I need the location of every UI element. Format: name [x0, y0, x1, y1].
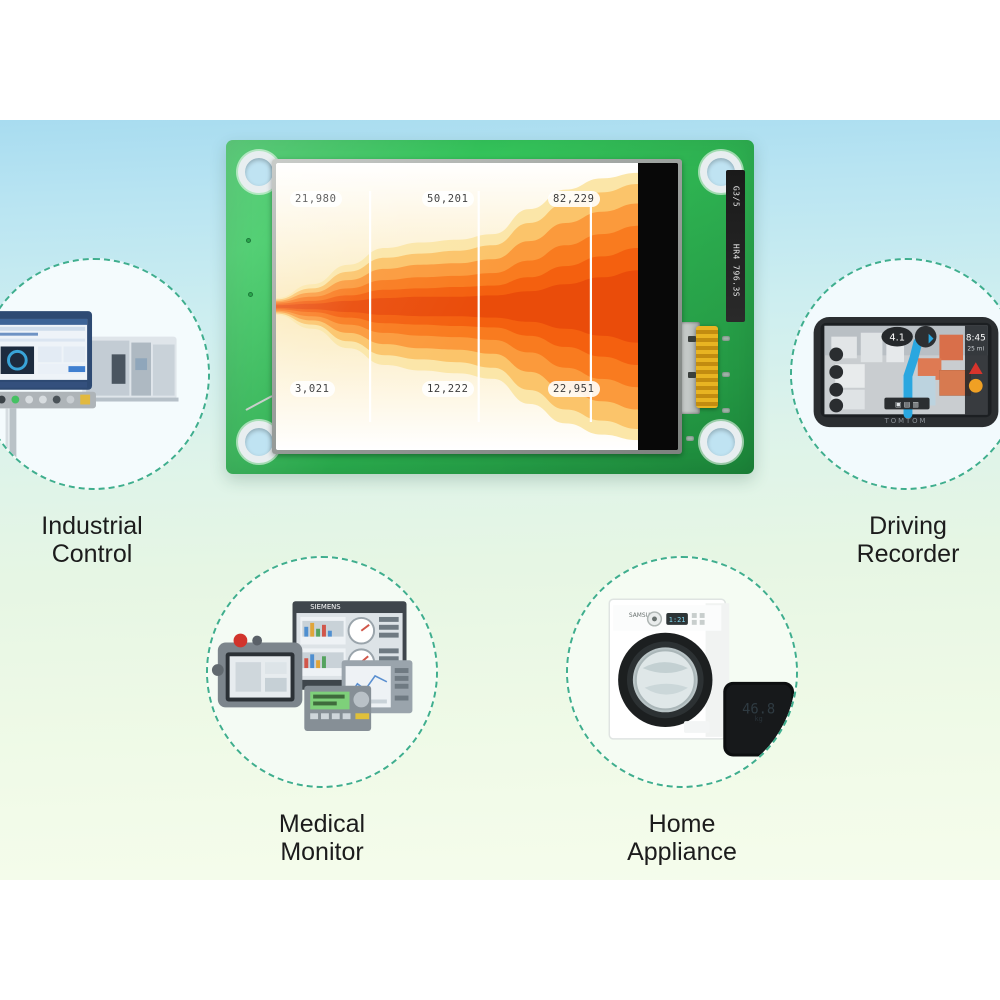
application-driving-recorder[interactable]: 4.1 8:45 25 mi ▣ ▤ ▥ T — [790, 258, 1000, 490]
solder-pad — [246, 238, 251, 243]
connector-notch — [688, 372, 696, 378]
smd-pad — [686, 436, 694, 441]
smd-pad — [722, 336, 730, 341]
connector-notch — [688, 336, 696, 342]
application-medical-monitor[interactable]: SIEMENS — [206, 556, 438, 788]
caption-home-appliance: Home Appliance — [582, 810, 782, 867]
svg-text:1:21: 1:21 — [669, 616, 686, 624]
solder-pad — [248, 292, 253, 297]
tft-lcd-display-module: G3/5 HR4 796.3S — [226, 140, 754, 474]
flex-cable-tail — [696, 326, 718, 408]
caption-industrial-control: Industrial Control — [0, 512, 192, 569]
svg-text:4.1: 4.1 — [889, 333, 905, 344]
infographic-stage: G3/5 HR4 796.3S — [0, 0, 1000, 1000]
chart-label-top-right: 82,229 — [548, 191, 600, 207]
circle-frame-medical: SIEMENS — [206, 556, 438, 788]
chart-label-top-center: 50,201 — [422, 191, 474, 207]
svg-text:SIEMENS: SIEMENS — [310, 603, 340, 611]
svg-text:TOMTOM: TOMTOM — [884, 417, 928, 425]
lcd-screen[interactable]: 21,980 50,201 82,229 3,021 12,222 22,951 — [276, 163, 638, 450]
caption-medical-monitor: Medical Monitor — [222, 810, 422, 867]
chart-label-top-left: 21,980 — [290, 191, 342, 207]
silkscreen-text-g35: G3/5 — [731, 186, 740, 207]
chart-label-bottom-center: 12,222 — [422, 381, 474, 397]
mounting-hole-bottom-right — [700, 421, 742, 463]
svg-text:8:45: 8:45 — [966, 334, 986, 344]
smd-pad — [722, 372, 730, 377]
svg-text:▣ ▤ ▥: ▣ ▤ ▥ — [895, 400, 919, 408]
lcd-panel: 21,980 50,201 82,229 3,021 12,222 22,951 — [276, 163, 678, 450]
gps-navigation-thumbnail: 4.1 8:45 25 mi ▣ ▤ ▥ T — [792, 260, 1000, 488]
hmi-panel-group-thumbnail: SIEMENS — [208, 558, 436, 786]
svg-text:kg: kg — [755, 715, 763, 723]
circle-frame-driving: 4.1 8:45 25 mi ▣ ▤ ▥ T — [790, 258, 1000, 490]
industrial-hmi-thumbnail — [0, 260, 208, 488]
lcd-bezel: 21,980 50,201 82,229 3,021 12,222 22,951 — [272, 159, 682, 454]
washing-machine-thumbnail: SAMSUNG 1:21 — [568, 558, 796, 786]
circle-frame-industrial — [0, 258, 210, 490]
silkscreen-text-hr4: HR4 796.3S — [731, 244, 740, 297]
smd-pad — [722, 408, 730, 413]
side-silkscreen-strip: G3/5 HR4 796.3S — [726, 170, 745, 322]
caption-driving-recorder: Driving Recorder — [808, 512, 1000, 569]
application-industrial-control[interactable] — [0, 258, 210, 490]
application-home-appliance[interactable]: SAMSUNG 1:21 — [566, 556, 798, 788]
chart-label-bottom-right: 22,951 — [548, 381, 600, 397]
svg-text:25 mi: 25 mi — [967, 346, 984, 352]
lcd-inactive-area — [638, 163, 678, 450]
circle-frame-home: SAMSUNG 1:21 — [566, 556, 798, 788]
chart-label-bottom-left: 3,021 — [290, 381, 335, 397]
